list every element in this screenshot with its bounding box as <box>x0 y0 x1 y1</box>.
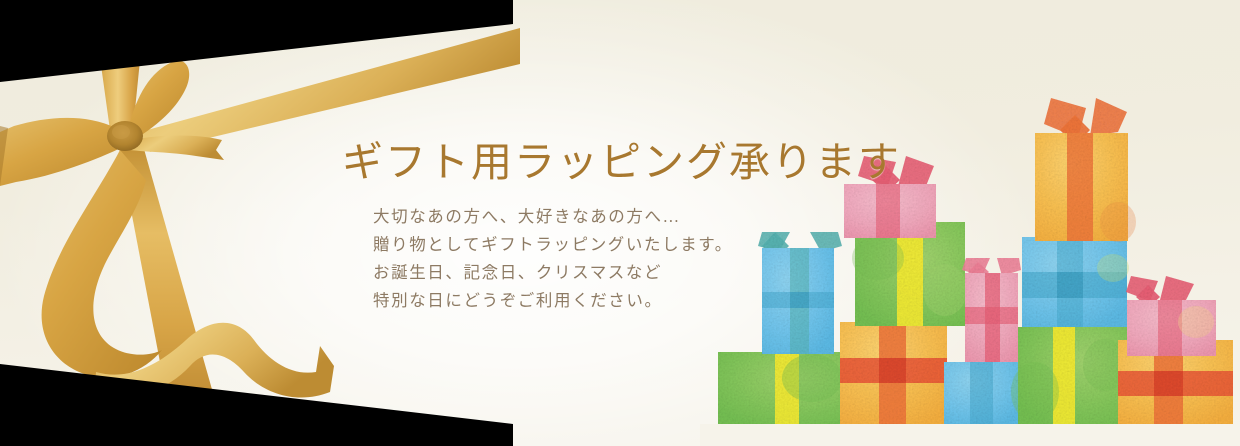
corner-wedge-top <box>0 0 513 92</box>
description-line-1: 大切なあの方へ、大好きなあの方へ… <box>373 203 733 231</box>
gift-box-pink-right <box>1126 276 1216 356</box>
corner-wedge-bottom <box>0 354 513 446</box>
gift-box-pink-center <box>962 258 1021 362</box>
gift-box-blue-right <box>1022 237 1129 327</box>
gift-box-orange-tower <box>1035 98 1136 242</box>
description-line-4: 特別な日にどうぞご利用ください。 <box>373 287 733 315</box>
gift-box-blue-bottom-center <box>944 362 1021 424</box>
gift-box-green-bottom-center <box>1011 327 1128 424</box>
gift-box-orange-bottom-left <box>840 322 947 424</box>
gift-box-green-bottom-left <box>718 352 851 424</box>
gift-wrapping-banner: ギフト用ラッピング承ります 大切なあの方へ、大好きなあの方へ… 贈り物としてギフ… <box>0 0 1240 446</box>
page-title: ギフト用ラッピング承ります <box>342 128 901 188</box>
gift-box-blue-left <box>758 232 842 354</box>
description-line-2: 贈り物としてギフトラッピングいたします。 <box>373 231 733 259</box>
description-line-3: お誕生日、記念日、クリスマスなど <box>373 259 733 287</box>
banner-description: 大切なあの方へ、大好きなあの方へ… 贈り物としてギフトラッピングいたします。 お… <box>373 203 733 315</box>
